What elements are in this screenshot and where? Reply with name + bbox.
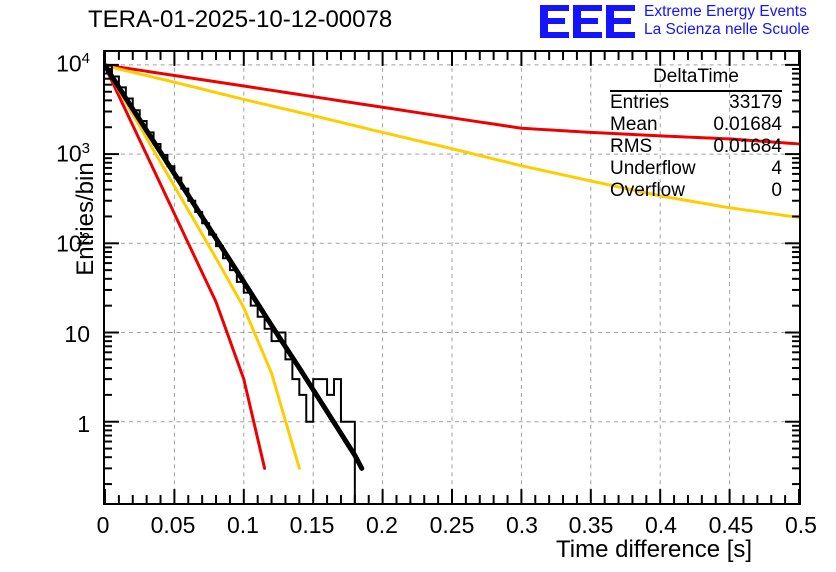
x-tick-label-0: 0	[73, 512, 133, 539]
y-tick-label-10e3: 103	[28, 140, 90, 168]
stats-label: Mean	[610, 114, 662, 136]
page-title: TERA-01-2025-10-12-00078	[88, 6, 392, 34]
x-tick-label-035: 0.35	[561, 512, 621, 539]
x-tick-label-015: 0.15	[282, 512, 342, 539]
stats-label: RMS	[610, 136, 656, 158]
x-axis-title: Time difference [s]	[556, 536, 752, 564]
x-tick-label-005: 0.05	[143, 512, 203, 539]
eee-logo: Extreme Energy Events La Scienza nelle S…	[540, 3, 832, 41]
stats-box: DeltaTime Entries 33179 Mean 0.01684 RMS…	[610, 66, 782, 202]
stats-label: Overflow	[610, 180, 689, 202]
stats-value: 0.01684	[713, 136, 782, 158]
stats-value: 33179	[729, 92, 782, 114]
x-tick-label-05: 0.5	[771, 512, 831, 539]
x-tick-label-01: 0.1	[213, 512, 273, 539]
y-tick-label-10: 10	[28, 321, 90, 348]
x-tick-label-025: 0.25	[422, 512, 482, 539]
x-tick-label-045: 0.45	[701, 512, 761, 539]
stats-row-rms: RMS 0.01684	[610, 136, 782, 158]
stats-value: 4	[771, 158, 782, 180]
stats-value: 0.01684	[713, 114, 782, 136]
x-tick-label-03: 0.3	[492, 512, 552, 539]
stats-row-underflow: Underflow 4	[610, 158, 782, 180]
stats-label: Entries	[610, 92, 673, 114]
stats-row-entries: Entries 33179	[610, 92, 782, 114]
eee-logo-line1: Extreme Energy Events	[644, 3, 834, 21]
eee-logo-mark	[540, 5, 638, 38]
y-tick-label-10e2: 102	[28, 230, 90, 258]
y-tick-label-10e4: 104	[28, 50, 90, 78]
y-tick-label-1: 1	[28, 411, 90, 438]
stats-row-mean: Mean 0.01684	[610, 114, 782, 136]
x-tick-label-02: 0.2	[352, 512, 412, 539]
stats-label: Underflow	[610, 158, 700, 180]
eee-logo-line2: La Scienza nelle Scuole	[644, 21, 834, 39]
stats-title: DeltaTime	[610, 66, 782, 92]
eee-logo-text: Extreme Energy Events La Scienza nelle S…	[644, 3, 834, 39]
stats-value: 0	[771, 180, 782, 202]
stats-row-overflow: Overflow 0	[610, 180, 782, 202]
x-tick-label-04: 0.4	[631, 512, 691, 539]
